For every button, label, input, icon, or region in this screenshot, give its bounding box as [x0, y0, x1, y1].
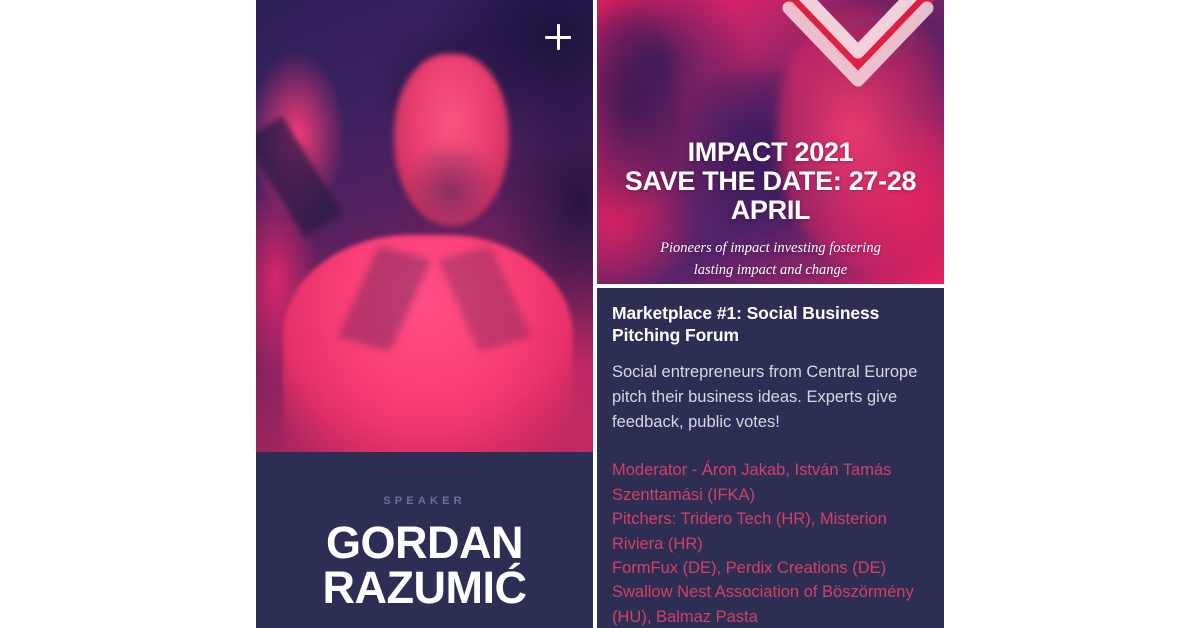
plus-icon[interactable] — [545, 24, 571, 50]
credit-line: Moderator - Áron Jakab, István Tamás Sze… — [612, 458, 928, 507]
credit-line: Pitchers: Tridero Tech (HR), Misterion R… — [612, 507, 928, 556]
speaker-name-line-2: RAZUMIĆ — [323, 562, 527, 613]
hero-tagline: Pioneers of impact investing fostering l… — [607, 237, 934, 282]
speaker-card: SPEAKER GORDAN RAZUMIĆ — [256, 0, 593, 628]
hero-text-block: IMPACT 2021 SAVE THE DATE: 27-28 APRIL P… — [597, 138, 944, 282]
session-description: Social entrepreneurs from Central Europe… — [612, 360, 928, 434]
right-column: IMPACT 2021 SAVE THE DATE: 27-28 APRIL P… — [597, 0, 944, 628]
session-info-panel: Marketplace #1: Social Business Pitching… — [597, 288, 944, 628]
hero-title-line-3: APRIL — [731, 195, 811, 225]
hero-tagline-line-1: Pioneers of impact investing fostering — [660, 240, 881, 256]
chevron-logo-icon — [763, 0, 945, 114]
hero-title-line-2: SAVE THE DATE: 27-28 — [625, 166, 917, 196]
session-title: Marketplace #1: Social Business Pitching… — [612, 302, 928, 346]
credit-line: Swallow Nest Association of Böszörmény (… — [612, 580, 928, 628]
hero-tagline-line-2: lasting impact and change — [694, 262, 847, 278]
speaker-photo — [256, 0, 593, 452]
speaker-kicker: SPEAKER — [256, 496, 593, 507]
speaker-meta: SPEAKER GORDAN RAZUMIĆ — [256, 452, 593, 628]
event-hero-banner: IMPACT 2021 SAVE THE DATE: 27-28 APRIL P… — [597, 0, 944, 284]
photo-vignette — [256, 0, 593, 452]
credit-line: FormFux (DE), Perdix Creations (DE) — [612, 556, 928, 580]
hero-title-line-1: IMPACT 2021 — [688, 137, 854, 167]
hero-title: IMPACT 2021 SAVE THE DATE: 27-28 APRIL — [607, 138, 934, 225]
session-credits: Moderator - Áron Jakab, István Tamás Sze… — [612, 458, 928, 628]
content-stage: SPEAKER GORDAN RAZUMIĆ — [256, 0, 944, 628]
speaker-name-line-1: GORDAN — [326, 517, 523, 568]
speaker-name: GORDAN RAZUMIĆ — [256, 521, 593, 610]
